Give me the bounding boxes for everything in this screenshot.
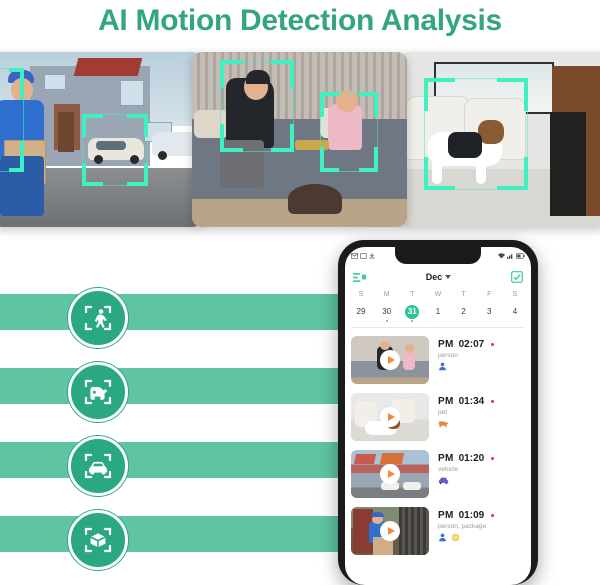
weekday-label: F bbox=[477, 289, 501, 301]
event-tags: person, package bbox=[438, 523, 525, 530]
page-title: AI Motion Detection Analysis bbox=[0, 0, 600, 42]
scene-delivery bbox=[0, 52, 202, 227]
car-icon bbox=[438, 476, 449, 485]
phone-mockup: Dec S M T W T F S bbox=[338, 240, 538, 585]
vehicle-detect-icon bbox=[68, 436, 128, 496]
unread-dot bbox=[491, 400, 494, 403]
list-item[interactable]: PM 01:09 person, package bbox=[351, 502, 525, 559]
event-clock: 01:20 bbox=[459, 453, 485, 464]
human-detect-icon bbox=[68, 288, 128, 348]
weekday-label: T bbox=[400, 289, 424, 301]
event-time: PM 02:07 bbox=[438, 339, 525, 350]
unread-dot bbox=[491, 514, 494, 517]
month-label: Dec bbox=[426, 272, 443, 282]
unread-dot bbox=[491, 457, 494, 460]
date-cell[interactable]: 2 bbox=[452, 301, 476, 322]
scene-family-sofa bbox=[192, 52, 407, 227]
message-icon bbox=[360, 253, 367, 259]
play-icon[interactable] bbox=[380, 407, 400, 427]
date-number: 30 bbox=[380, 305, 394, 319]
weekday-label: W bbox=[426, 289, 450, 301]
date-number: 2 bbox=[457, 305, 471, 319]
weekday-row: S M T W T F S bbox=[349, 289, 527, 301]
event-tags: pet bbox=[438, 409, 525, 416]
detection-bracket-vehicle bbox=[82, 114, 148, 186]
list-item[interactable]: PM 02:07 person bbox=[351, 331, 525, 388]
list-item[interactable]: PM 01:34 pet bbox=[351, 388, 525, 445]
event-thumbnail[interactable] bbox=[351, 336, 429, 384]
play-icon[interactable] bbox=[380, 350, 400, 370]
pet-detect-icon bbox=[68, 362, 128, 422]
event-ampm: PM bbox=[438, 396, 454, 407]
date-cell[interactable]: 4 bbox=[503, 301, 527, 322]
date-number: 29 bbox=[354, 305, 368, 319]
list-item[interactable]: PM 01:20 vehicle bbox=[351, 445, 525, 502]
hero-panel-pet bbox=[400, 52, 600, 227]
hero-panel-family bbox=[192, 52, 407, 227]
app-header: Dec bbox=[345, 267, 531, 287]
scene-dog-room bbox=[400, 52, 600, 227]
play-icon[interactable] bbox=[380, 464, 400, 484]
signal-icon bbox=[507, 253, 514, 259]
poster-stage: AI Motion Detection Analysis bbox=[0, 0, 600, 578]
package-detect-icon bbox=[68, 510, 128, 570]
event-time: PM 01:20 bbox=[438, 453, 525, 464]
dog-icon bbox=[438, 419, 449, 428]
header-divider bbox=[351, 327, 525, 328]
event-time: PM 01:09 bbox=[438, 510, 525, 521]
weekday-label: T bbox=[452, 289, 476, 301]
feature-bar-bg-3 bbox=[0, 442, 360, 478]
event-tags: person bbox=[438, 352, 525, 359]
phone-screen: Dec S M T W T F S bbox=[345, 247, 531, 585]
detection-bracket-adult bbox=[220, 60, 294, 152]
detection-bracket-pet bbox=[424, 78, 528, 190]
calendar-week-strip: S M T W T F S 29 30 31 1 2 3 4 bbox=[345, 289, 531, 325]
event-dot bbox=[411, 320, 413, 322]
event-list[interactable]: PM 02:07 person bbox=[345, 331, 531, 585]
date-cell[interactable]: 29 bbox=[349, 301, 373, 322]
date-number: 4 bbox=[508, 305, 522, 319]
wifi-icon bbox=[498, 253, 505, 259]
date-number: 1 bbox=[431, 305, 445, 319]
event-thumbnail[interactable] bbox=[351, 450, 429, 498]
date-cell[interactable]: 1 bbox=[426, 301, 450, 322]
date-number: 3 bbox=[482, 305, 496, 319]
event-thumbnail[interactable] bbox=[351, 393, 429, 441]
event-ampm: PM bbox=[438, 339, 454, 350]
event-ampm: PM bbox=[438, 510, 454, 521]
weekday-label: M bbox=[375, 289, 399, 301]
event-clock: 02:07 bbox=[459, 339, 485, 350]
chevron-down-icon bbox=[445, 275, 451, 279]
filter-list-icon[interactable] bbox=[353, 272, 366, 283]
event-tags: vehicle bbox=[438, 466, 525, 473]
person-icon bbox=[438, 533, 447, 542]
date-number: 31 bbox=[405, 305, 419, 319]
checkbox-edit-icon[interactable] bbox=[511, 271, 523, 283]
weekday-label: S bbox=[349, 289, 373, 301]
mail-icon bbox=[351, 253, 358, 259]
hero-panel-delivery bbox=[0, 52, 202, 227]
feature-bar-bg-2 bbox=[0, 368, 360, 404]
battery-icon bbox=[516, 253, 525, 259]
weekday-label: S bbox=[503, 289, 527, 301]
event-clock: 01:34 bbox=[459, 396, 485, 407]
event-time: PM 01:34 bbox=[438, 396, 525, 407]
date-cell[interactable]: 30 bbox=[375, 301, 399, 322]
package-icon bbox=[451, 533, 460, 542]
download-icon bbox=[369, 253, 375, 259]
hero-photo-strip bbox=[0, 52, 600, 227]
phone-notch bbox=[395, 247, 481, 264]
event-dot bbox=[386, 320, 388, 322]
date-row: 29 30 31 1 2 3 4 bbox=[349, 301, 527, 322]
event-clock: 01:09 bbox=[459, 510, 485, 521]
detection-bracket-child bbox=[320, 92, 378, 172]
unread-dot bbox=[491, 343, 494, 346]
person-icon bbox=[438, 362, 447, 371]
event-thumbnail[interactable] bbox=[351, 507, 429, 555]
play-icon[interactable] bbox=[380, 521, 400, 541]
feature-bar-bg-4 bbox=[0, 516, 360, 552]
event-ampm: PM bbox=[438, 453, 454, 464]
detection-bracket-person bbox=[0, 68, 24, 172]
date-cell[interactable]: 3 bbox=[477, 301, 501, 322]
date-cell-selected[interactable]: 31 bbox=[400, 301, 424, 322]
feature-bar-bg-1 bbox=[0, 294, 360, 330]
month-selector[interactable]: Dec bbox=[426, 272, 452, 282]
